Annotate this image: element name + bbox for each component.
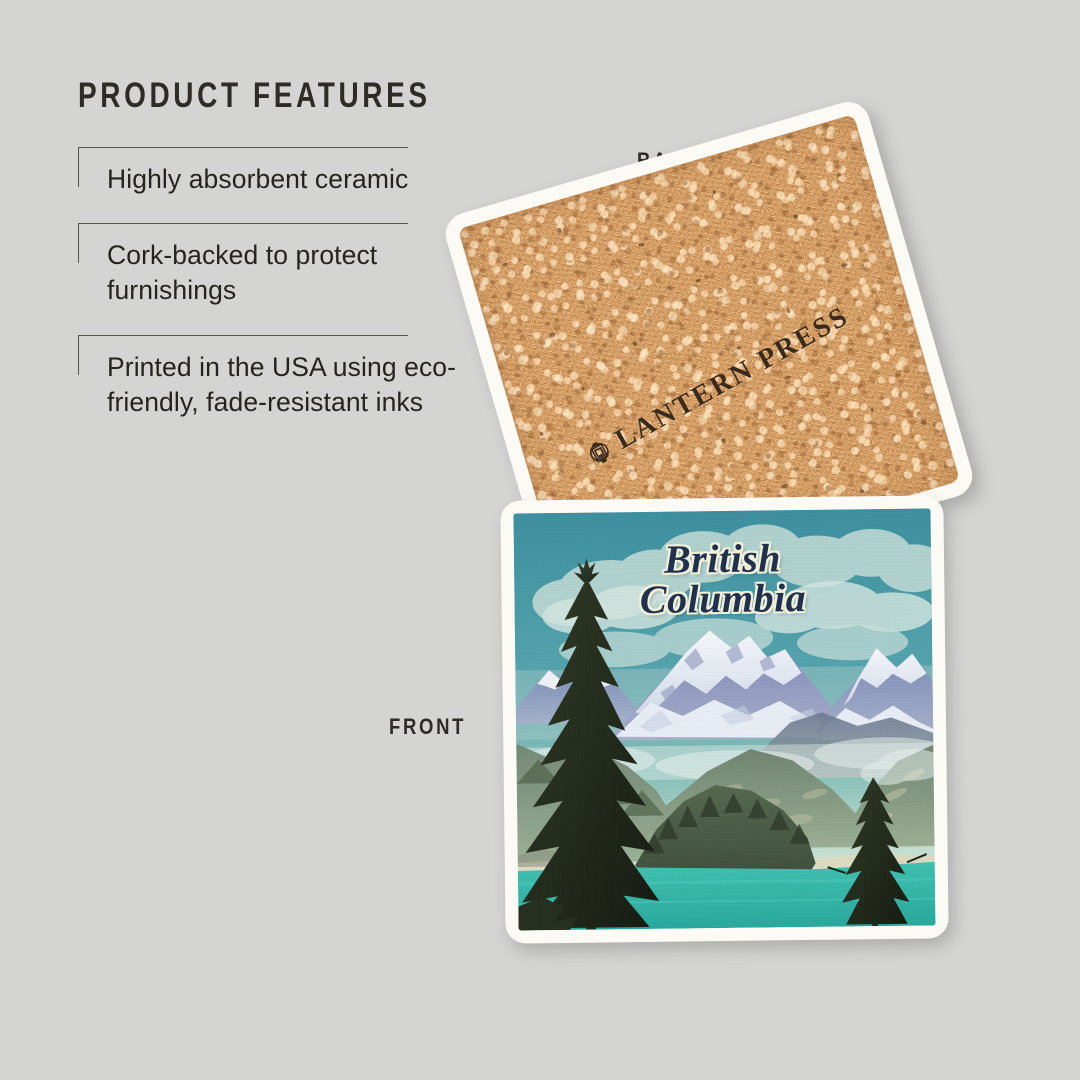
bracket-left-line [78,223,79,263]
list-item: Highly absorbent ceramic [78,147,468,197]
feature-text: Printed in the USA using eco-friendly, f… [107,335,468,420]
feature-text: Highly absorbent ceramic [107,147,468,197]
product-feature-graphic: PRODUCT FEATURES Highly absorbent cerami… [0,0,1080,1080]
page-title: PRODUCT FEATURES [78,78,390,113]
list-item: Cork-backed to protect furnishings [78,223,468,308]
artwork-illustration [513,508,935,930]
front-coaster: British Columbia [500,495,948,943]
bracket-top-line [78,147,408,148]
bracket-left-line [78,147,79,187]
bracket-top-line [78,335,408,336]
coaster-artwork: British Columbia [513,508,935,930]
bracket-top-line [78,223,408,224]
list-item: Printed in the USA using eco-friendly, f… [78,335,468,420]
feature-list: Highly absorbent ceramic Cork-backed to … [78,147,468,420]
product-features-panel: PRODUCT FEATURES Highly absorbent cerami… [78,78,468,446]
front-label: FRONT [389,714,466,740]
feature-text: Cork-backed to protect furnishings [107,223,468,308]
bracket-left-line [78,335,79,375]
